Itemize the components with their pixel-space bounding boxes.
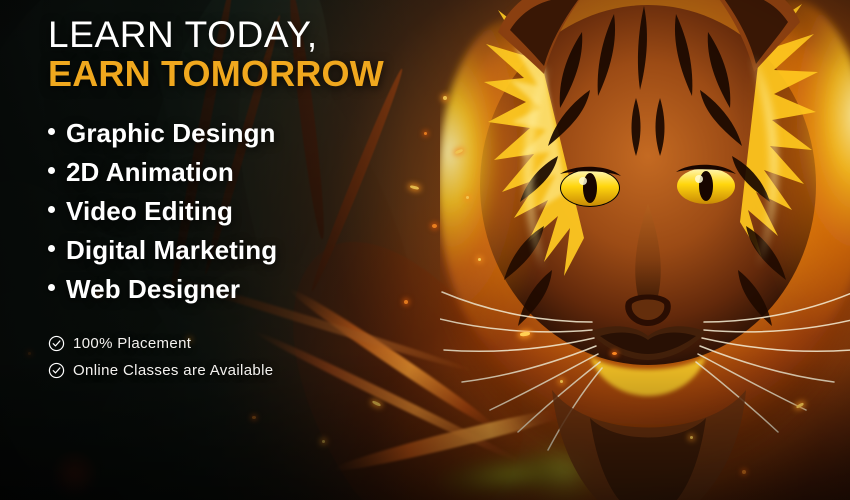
feature-label: Online Classes are Available	[73, 362, 273, 379]
bullet-icon	[48, 245, 55, 252]
headline-line-2: EARN TOMORROW	[48, 56, 384, 92]
course-list-item: Graphic Desingn	[48, 118, 277, 157]
course-label: Graphic Desingn	[66, 118, 276, 149]
feature-list-item: Online Classes are Available	[48, 357, 273, 384]
course-list: Graphic Desingn 2D Animation Video Editi…	[48, 118, 277, 313]
course-label: Web Designer	[66, 274, 240, 305]
banner-content: LEARN TODAY, EARN TOMORROW Graphic Desin…	[0, 0, 430, 500]
check-circle-icon	[48, 335, 65, 352]
bullet-icon	[48, 284, 55, 291]
check-circle-icon	[48, 362, 65, 379]
bullet-icon	[48, 128, 55, 135]
course-label: 2D Animation	[66, 157, 234, 188]
promo-banner: LEARN TODAY, EARN TOMORROW Graphic Desin…	[0, 0, 850, 500]
feature-list-item: 100% Placement	[48, 330, 273, 357]
course-label: Video Editing	[66, 196, 233, 227]
feature-list: 100% Placement Online Classes are Availa…	[48, 330, 273, 384]
course-list-item: Web Designer	[48, 274, 277, 313]
feature-label: 100% Placement	[73, 335, 191, 352]
headline-line-1: LEARN TODAY,	[48, 16, 318, 53]
course-label: Digital Marketing	[66, 235, 277, 266]
course-list-item: Video Editing	[48, 196, 277, 235]
bullet-icon	[48, 206, 55, 213]
bullet-icon	[48, 167, 55, 174]
course-list-item: Digital Marketing	[48, 235, 277, 274]
course-list-item: 2D Animation	[48, 157, 277, 196]
